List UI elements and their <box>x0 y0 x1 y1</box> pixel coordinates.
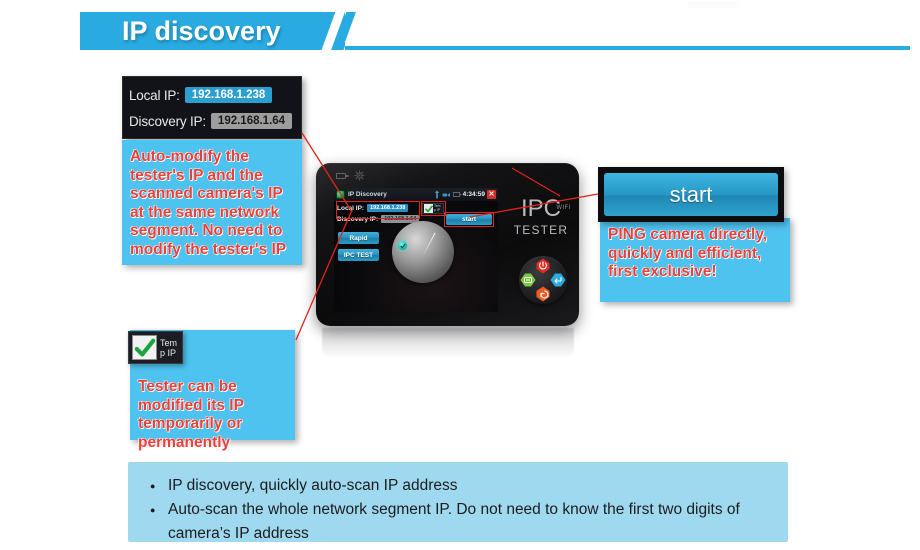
list-item: Auto-scan the whole network segment IP. … <box>164 498 770 546</box>
highlight-start-button <box>444 212 494 227</box>
list-item: IP discovery, quickly auto-scan IP addre… <box>164 474 770 498</box>
temp-ip-chip[interactable]: Tem p IP <box>128 331 183 364</box>
ip-panel-local-value[interactable]: 192.168.1.238 <box>185 87 273 103</box>
battery-icon <box>453 192 461 197</box>
scan-dial-indicator <box>398 241 407 250</box>
temp-ip-chip-label-line2: p IP <box>160 348 182 358</box>
screen-ipc-test-button[interactable]: IPC TEST <box>338 249 379 261</box>
screen-app-title: IP Discovery <box>348 191 387 198</box>
device-keypad <box>519 256 567 304</box>
screen-rapid-button[interactable]: Rapid <box>338 232 379 244</box>
close-icon[interactable]: ✕ <box>487 190 496 199</box>
check-icon <box>134 337 156 359</box>
device-brand-ipc: IPC WIFI <box>508 197 574 221</box>
usb-icon <box>336 172 349 180</box>
network-icon <box>442 191 451 199</box>
start-button-callout-frame: start <box>598 167 784 222</box>
screen-titlebar: IP Discovery 4:34:59 ✕ <box>334 188 498 201</box>
ip-panel-discovery-row: Discovery IP: 192.168.1.64 <box>129 108 301 134</box>
device-brand-wifi: WIFI <box>556 196 571 220</box>
page-title: IP discovery <box>122 16 281 47</box>
screen-clock: 4:34:59 <box>463 191 485 198</box>
signal-icon <box>434 190 440 199</box>
ip-panel-discovery-value[interactable]: 192.168.1.64 <box>211 113 292 129</box>
ip-panel: Local IP: 192.168.1.238 Discovery IP: 19… <box>122 76 302 139</box>
device-bezel-icons <box>336 170 365 181</box>
feature-list: IP discovery, quickly auto-scan IP addre… <box>146 474 770 546</box>
temp-ip-chip-label-line1: Tem <box>160 338 182 348</box>
power-button[interactable] <box>535 258 551 274</box>
callout-ping-text: PING camera directly, quickly and effici… <box>608 226 784 282</box>
device-reflection <box>322 328 574 362</box>
temp-ip-checkbox[interactable] <box>132 335 157 360</box>
scan-dial[interactable] <box>392 221 454 283</box>
callout-ping: PING camera directly, quickly and effici… <box>600 218 790 302</box>
callout-auto-modify: Auto-modify the tester's IP and the scan… <box>122 140 302 265</box>
check-icon <box>400 243 406 249</box>
ip-discovery-icon <box>336 190 345 199</box>
device-brand: IPC WIFI TESTER <box>508 197 574 237</box>
menu-icon <box>520 272 536 288</box>
scan-dial-needle <box>423 232 436 255</box>
ipc-tester-device: IP Discovery 4:34:59 ✕ Local IP: 192.1 <box>316 163 579 326</box>
screen-status-area: 4:34:59 ✕ <box>434 190 498 199</box>
temp-ip-chip-label: Tem p IP <box>160 338 182 358</box>
callout-auto-modify-text: Auto-modify the tester's IP and the scan… <box>130 148 296 259</box>
start-button-large[interactable]: start <box>604 173 778 216</box>
return-button[interactable] <box>535 286 551 302</box>
enter-button[interactable] <box>550 272 566 288</box>
device-screen[interactable]: IP Discovery 4:34:59 ✕ Local IP: 192.1 <box>334 188 498 312</box>
device-brand-tester: TESTER <box>508 223 574 237</box>
enter-icon <box>550 272 566 288</box>
ip-panel-local-row: Local IP: 192.168.1.238 <box>129 82 301 108</box>
header-underline <box>345 46 910 50</box>
camera-icon <box>354 170 365 181</box>
menu-button[interactable] <box>520 272 536 288</box>
header-slash-group <box>313 12 373 50</box>
device-brand-ipc-text: IPC <box>521 195 561 222</box>
header-artifact <box>688 1 740 8</box>
return-icon <box>535 286 551 302</box>
power-icon <box>535 258 551 274</box>
feature-note: IP discovery, quickly auto-scan IP addre… <box>128 462 788 542</box>
highlight-ip-fields <box>336 201 420 219</box>
page-header: IP discovery <box>0 0 920 62</box>
highlight-temp-ip <box>421 201 446 216</box>
ip-panel-local-label: Local IP: <box>129 88 180 103</box>
ip-panel-discovery-label: Discovery IP: <box>129 114 206 129</box>
callout-temp-ip-text: Tester can be modified its IP temporaril… <box>138 378 296 452</box>
